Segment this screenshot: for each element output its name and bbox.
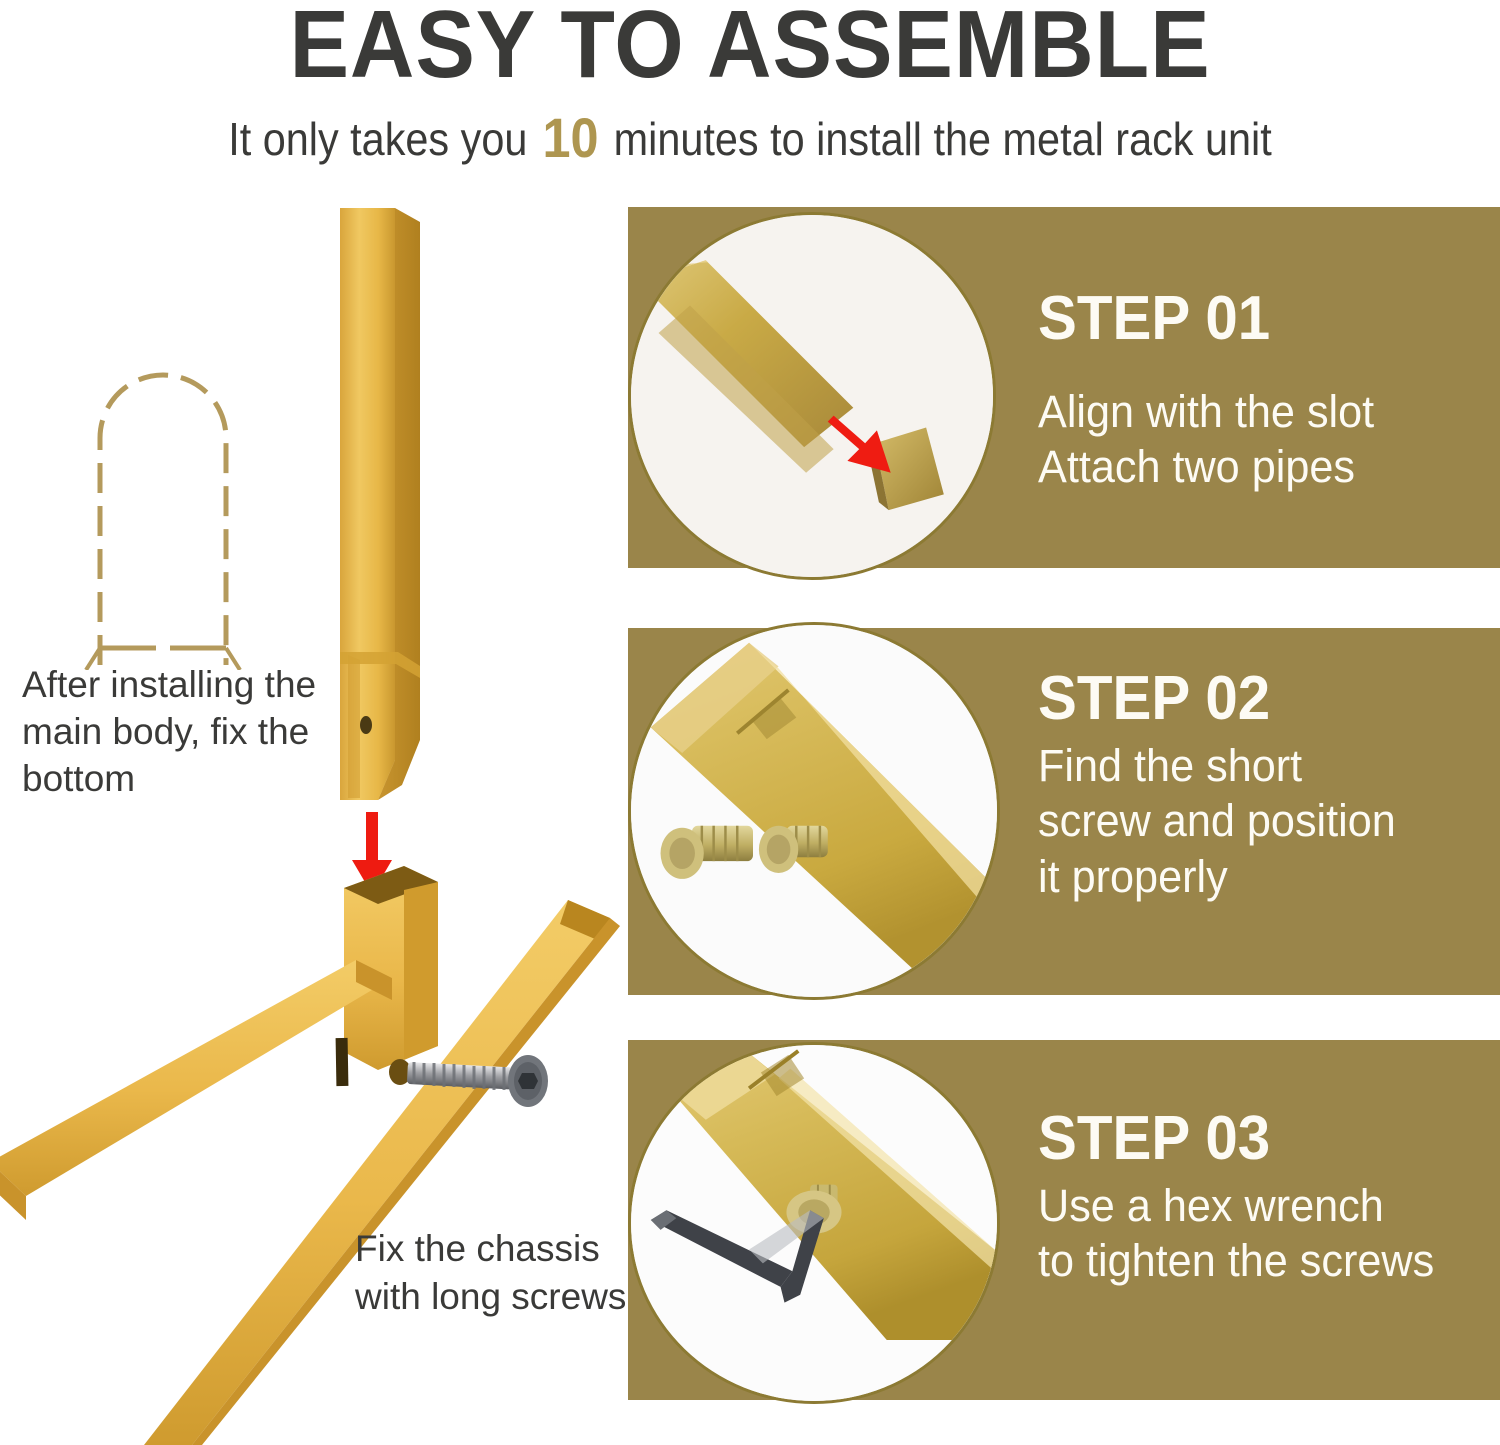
step-2-desc-line1: Find the short [1038,738,1480,793]
page-title: EASY TO ASSEMBLE [53,0,1448,94]
subtitle-text-before: It only takes you [228,113,539,165]
subtitle-minutes-number: 10 [539,106,602,169]
step-1-photo [628,212,996,580]
step-2-photo [628,622,1000,1000]
step-2-description: Find the short screw and position it pro… [1038,738,1480,904]
step-1-description: Align with the slot Attach two pipes [1038,384,1480,495]
step-2-desc-line2: screw and position [1038,793,1480,848]
page-subtitle: It only takes you 10 minutes to install … [75,104,1425,171]
chassis-caption-line2: with long screws [355,1273,640,1321]
step-1-text: STEP 01 Align with the slot Attach two p… [1038,288,1498,495]
step-1-desc-line2: Attach two pipes [1038,439,1480,494]
step-2-label: STEP 02 [1038,668,1470,730]
step-3-desc-line1: Use a hex wrench [1038,1178,1489,1233]
short-screws-photo [631,625,997,997]
header: EASY TO ASSEMBLE It only takes you 10 mi… [0,0,1500,200]
hex-wrench-photo [631,1045,997,1401]
step-2-desc-line3: it properly [1038,849,1480,904]
chassis-caption-line1: Fix the chassis [355,1225,640,1273]
chassis-cross-base [0,900,620,1445]
two-pipes-aligning-photo [631,215,993,577]
step-2-text: STEP 02 Find the short screw and positio… [1038,668,1498,904]
step-3-description: Use a hex wrench to tighten the screws [1038,1178,1489,1289]
step-3-text: STEP 03 Use a hex wrench to tighten the … [1038,1108,1498,1289]
subtitle-text-after: minutes to install the metal rack unit [602,113,1272,165]
step-1-desc-line1: Align with the slot [1038,384,1480,439]
step-3-label: STEP 03 [1038,1108,1470,1170]
step-1-label: STEP 01 [1038,288,1470,350]
step-3-photo [628,1042,1000,1404]
vertical-pipe [340,208,420,800]
left-illustration-zone: After installing the main body, fix the … [0,200,640,1445]
chassis-caption: Fix the chassis with long screws [355,1225,640,1321]
infographic-page: EASY TO ASSEMBLE It only takes you 10 mi… [0,0,1500,1445]
step-3-desc-line2: to tighten the screws [1038,1233,1489,1288]
